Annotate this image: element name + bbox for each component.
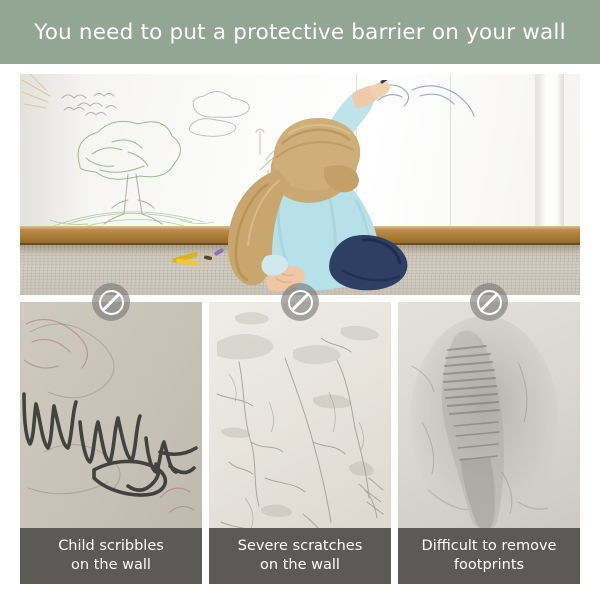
- caption-line-2: on the wall: [71, 556, 151, 575]
- panel-severe-scratches: Severe scratches on the wall: [209, 302, 391, 584]
- caption-line-1: Difficult to remove: [422, 537, 557, 556]
- panel-caption-footprints: Difficult to remove footprints: [398, 528, 580, 584]
- caption-line-2: footprints: [454, 556, 524, 575]
- child-figure: [202, 80, 412, 295]
- page-title: You need to put a protective barrier on …: [34, 20, 566, 45]
- panel-caption-scribbles: Child scribbles on the wall: [20, 528, 202, 584]
- header-bar: You need to put a protective barrier on …: [0, 0, 600, 64]
- no-entry-icon: [470, 283, 508, 321]
- no-entry-icon: [92, 283, 130, 321]
- caption-line-1: Child scribbles: [58, 537, 164, 556]
- panel-difficult-footprints: Difficult to remove footprints: [398, 302, 580, 584]
- panel-caption-scratches: Severe scratches on the wall: [209, 528, 391, 584]
- promo-banner: You need to put a protective barrier on …: [0, 0, 600, 600]
- no-entry-icon: [281, 283, 319, 321]
- problem-panels: Child scribbles on the wall: [20, 302, 580, 584]
- panel-child-scribbles: Child scribbles on the wall: [20, 302, 202, 584]
- caption-line-1: Severe scratches: [238, 537, 363, 556]
- hero-photo: [20, 74, 580, 295]
- caption-line-2: on the wall: [260, 556, 340, 575]
